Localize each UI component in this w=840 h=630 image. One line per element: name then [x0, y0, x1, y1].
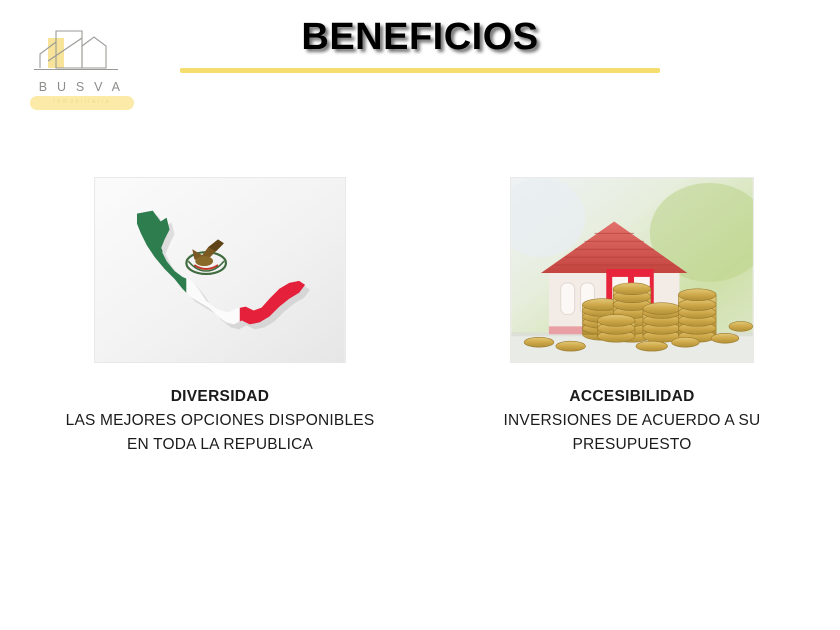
logo-tagline-pill: inmobiliaria — [30, 96, 134, 110]
benefit-caption-accesibilidad: ACCESIBILIDAD INVERSIONES DE ACUERDO A S… — [440, 385, 824, 457]
mexico-map-flag-image — [94, 177, 346, 363]
slide-canvas: B U S V A inmobiliaria BENEFICIOS — [0, 0, 840, 630]
building-outline-icon — [26, 24, 136, 82]
busva-logo[interactable]: B U S V A inmobiliaria — [26, 24, 136, 119]
benefit-heading: ACCESIBILIDAD — [440, 385, 824, 409]
benefit-heading: DIVERSIDAD — [18, 385, 422, 409]
benefit-caption-diversidad: DIVERSIDAD LAS MEJORES OPCIONES DISPONIB… — [18, 385, 422, 457]
page-title: BENEFICIOS — [180, 16, 660, 59]
benefit-card-accesibilidad: ACCESIBILIDAD INVERSIONES DE ACUERDO A S… — [440, 177, 824, 457]
benefit-card-diversidad: DIVERSIDAD LAS MEJORES OPCIONES DISPONIB… — [18, 177, 422, 457]
benefit-body-line-2: PRESUPUESTO — [440, 433, 824, 457]
title-underline-rule — [180, 68, 660, 73]
benefit-body-line-2: EN TODA LA REPUBLICA — [18, 433, 422, 457]
logo-tagline: inmobiliaria — [30, 98, 134, 105]
benefit-body-line-1: INVERSIONES DE ACUERDO A SU — [440, 409, 824, 433]
benefit-body-line-1: LAS MEJORES OPCIONES DISPONIBLES — [18, 409, 422, 433]
house-and-coins-image — [510, 177, 754, 363]
logo-wordmark: B U S V A — [26, 80, 136, 94]
